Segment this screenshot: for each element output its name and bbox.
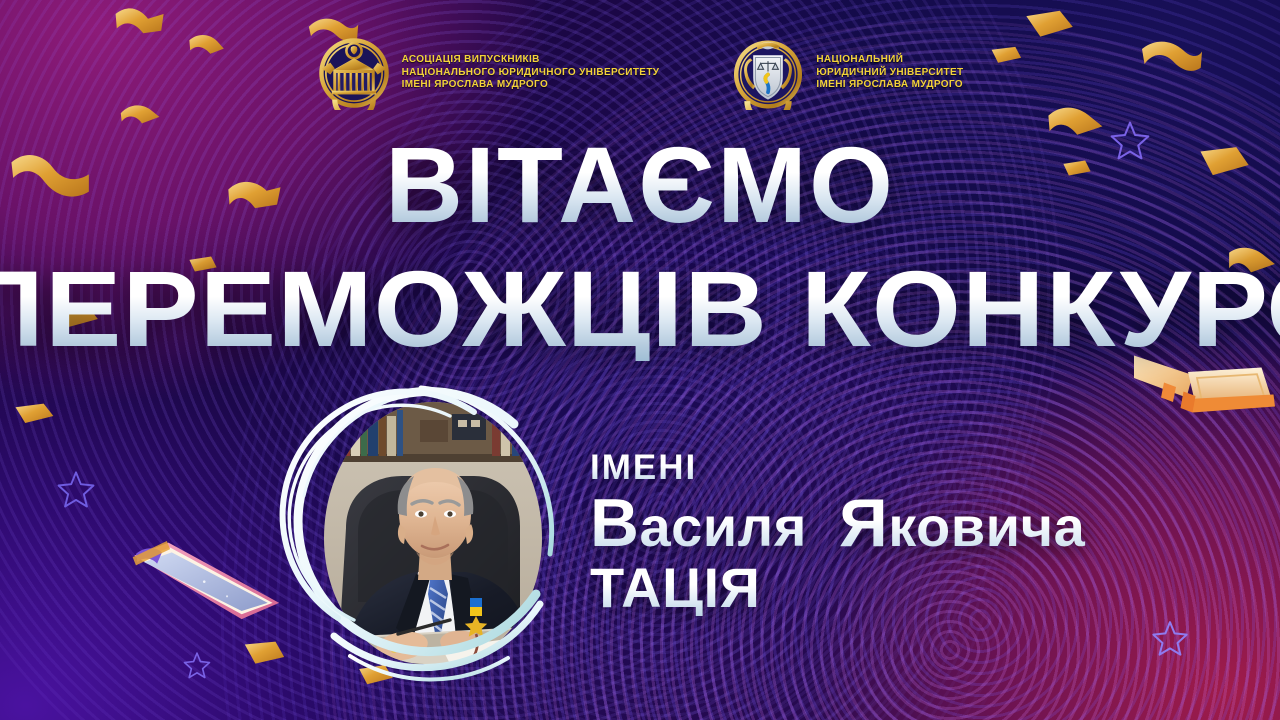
logo-alumni-line-3: ІМЕНІ ЯРОСЛАВА МУДРОГО xyxy=(402,79,660,92)
headline-line-1: ВІТАЄМО xyxy=(0,133,1280,237)
award-surname: ТАЦІЯ xyxy=(590,560,1190,616)
logo-row: АСОЦІАЦІЯ ВИПУСКНИКІВ НАЦІОНАЛЬНОГО ЮРИД… xyxy=(0,26,1280,120)
logo-alumni-line-1: АСОЦІАЦІЯ ВИПУСКНИКІВ xyxy=(402,54,660,67)
university-building-seal-icon xyxy=(317,36,391,110)
book-pink-blue-open-icon xyxy=(118,528,284,650)
logo-national-law-university[interactable]: НАЦІОНАЛЬНИЙ ЮРИДИЧНИЙ УНІВЕРСИТЕТ ІМЕНІ… xyxy=(731,36,963,110)
award-person-name: Василя Яковича xyxy=(590,490,1190,558)
logo-university-text: НАЦІОНАЛЬНИЙ ЮРИДИЧНИЙ УНІВЕРСИТЕТ ІМЕНІ… xyxy=(816,54,963,92)
logo-alumni-text: АСОЦІАЦІЯ ВИПУСКНИКІВ НАЦІОНАЛЬНОГО ЮРИД… xyxy=(402,54,660,92)
award-patronymic-rest: ковича xyxy=(888,495,1085,558)
award-given-name-rest: асиля xyxy=(639,495,806,558)
poster-canvas: АСОЦІАЦІЯ ВИПУСКНИКІВ НАЦІОНАЛЬНОГО ЮРИД… xyxy=(0,0,1280,720)
headline-line-2: ПЕРЕМОЖЦІВ КОНКУРСУ xyxy=(0,257,1280,361)
award-patronymic-initial: Я xyxy=(839,486,888,561)
award-prefix: ІМЕНІ xyxy=(590,450,1190,485)
award-given-name-initial: В xyxy=(590,486,639,561)
shield-scales-of-justice-seal-icon xyxy=(731,36,805,110)
logo-university-line-3: ІМЕНІ ЯРОСЛАВА МУДРОГО xyxy=(816,79,963,92)
portrait-medallion xyxy=(268,368,574,698)
logo-alumni-association[interactable]: АСОЦІАЦІЯ ВИПУСКНИКІВ НАЦІОНАЛЬНОГО ЮРИД… xyxy=(317,36,660,110)
award-name-block: ІМЕНІ Василя Яковича ТАЦІЯ xyxy=(590,450,1190,616)
portrait-ring-decoration xyxy=(268,368,574,698)
logo-alumni-line-2: НАЦІОНАЛЬНОГО ЮРИДИЧНОГО УНІВЕРСИТЕТУ xyxy=(402,67,660,80)
logo-university-line-2: ЮРИДИЧНИЙ УНІВЕРСИТЕТ xyxy=(816,67,963,80)
logo-university-line-1: НАЦІОНАЛЬНИЙ xyxy=(816,54,963,67)
